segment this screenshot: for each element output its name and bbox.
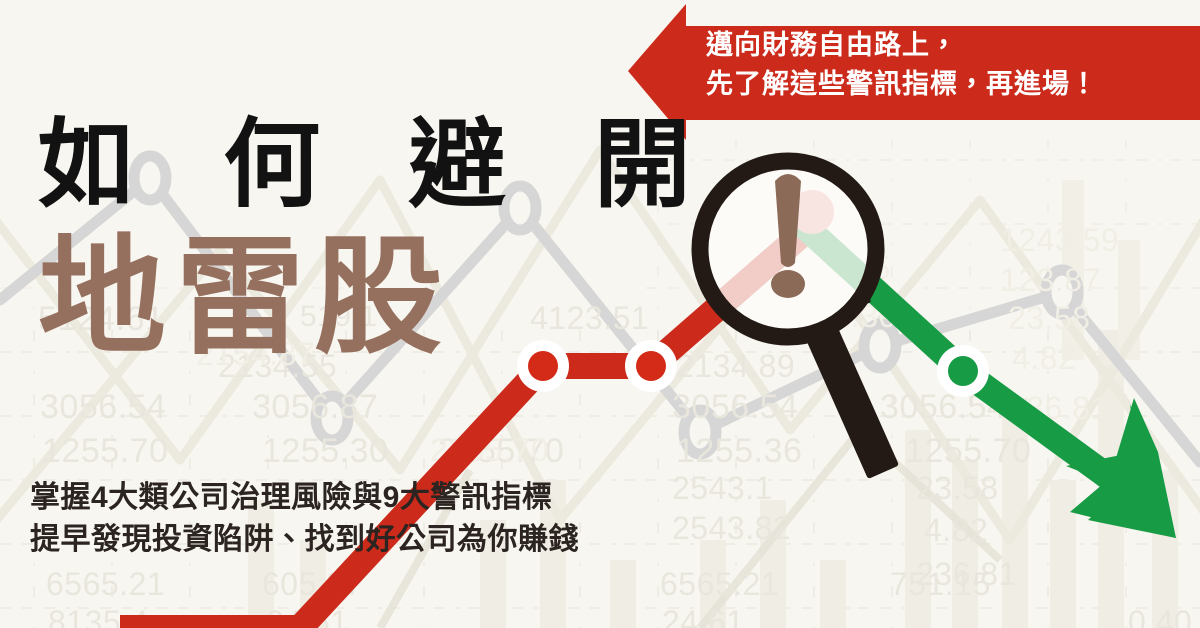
watermark-number: 4.82 [1012,340,1076,377]
watermark-number: 8135.4 [48,604,149,628]
watermark-number: 605.87 [262,566,363,603]
watermark-number: 305.05 [790,250,891,287]
watermark-number: 1255.36 [676,432,802,471]
watermark-number: 361.30 [796,298,897,335]
watermark-number: 1255.70 [42,432,168,471]
poster-canvas: 5124.61 519.1 4123.51 3056.54 3056.87 30… [0,0,1200,628]
watermark-number: 4123.51 [530,300,649,337]
watermark-number: 6565.21 [660,566,779,603]
watermark-number: 24.61 [662,604,745,628]
watermark-number: 1255.70 [905,432,1031,471]
watermark-number: 4.82 [924,512,988,549]
watermark-number: 1243.59 [1000,222,1119,259]
page-title-line2: 地雷股 [38,232,452,364]
page-title-line1: 如 何 避 開 [38,116,723,216]
tagline-text: 掌握4大類公司治理風險與9大警訊指標 提早發現投資陷阱、找到好公司為你賺錢 [30,477,579,561]
watermark-number: 0.40.9 [1128,604,1200,628]
watermark-number: 2543.1 [672,470,773,507]
watermark-number: 3056.54 [880,388,1006,427]
watermark-number: 3056.54 [40,388,166,427]
watermark-number: 236.81 [1008,390,1109,427]
watermark-number: 3056.54 [672,388,798,427]
watermark-number: 3056.87 [252,388,378,427]
banner-text: 邁向財務自由路上， 先了解這些警訊指標，再進場！ [706,26,1186,104]
watermark-number: 123.87 [1000,262,1101,299]
watermark-number: 751.15 [890,566,991,603]
watermark-number: 23.58 [1008,300,1091,337]
watermark-number: 23.58 [916,470,999,507]
watermark-number: 6565.21 [46,566,165,603]
watermark-number: 2134.89 [676,348,795,385]
watermark-number: 2255.70 [430,432,549,469]
watermark-number: 2543.82 [672,510,791,547]
watermark-number: 24.61 [266,604,349,628]
watermark-number: 1255.30 [262,432,388,471]
